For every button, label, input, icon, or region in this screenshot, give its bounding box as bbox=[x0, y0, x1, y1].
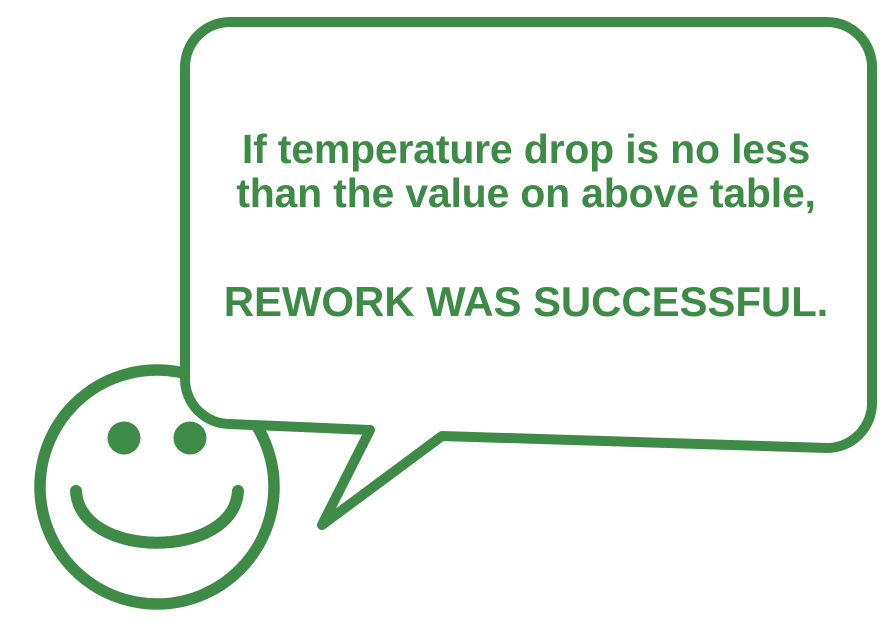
smiley-left-eye bbox=[108, 422, 141, 455]
bubble-text-gap bbox=[196, 214, 856, 280]
bubble-text-line-3: REWORK WAS SUCCESSFUL. bbox=[196, 280, 856, 324]
slide-canvas: If temperature drop is no less than the … bbox=[0, 0, 894, 630]
bubble-text-line-1: If temperature drop is no less bbox=[196, 128, 856, 171]
smiley-right-eye bbox=[174, 422, 207, 455]
bubble-text-line-2: than the value on above table, bbox=[196, 172, 856, 215]
bubble-text-block: If temperature drop is no less than the … bbox=[196, 128, 856, 324]
